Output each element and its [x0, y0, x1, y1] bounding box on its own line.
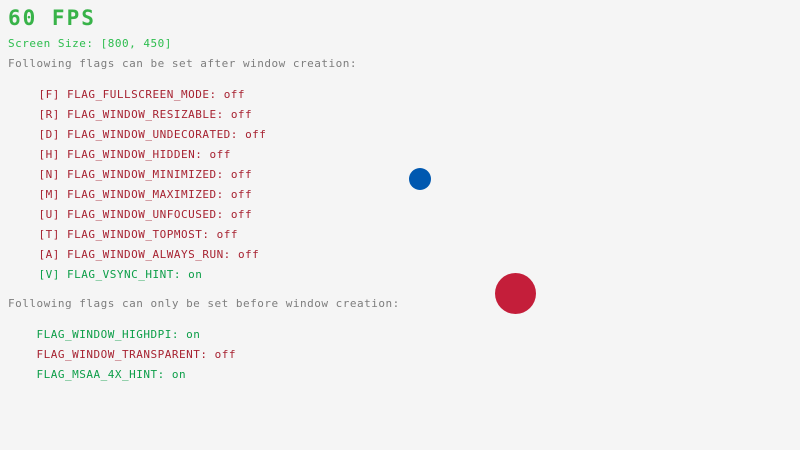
screen-size-label: Screen Size: [800, 450] — [8, 38, 172, 49]
flag-row-vsync-hint[interactable]: [V] FLAG_VSYNC_HINT: on — [10, 258, 202, 291]
section-heading-after-creation: Following flags can be set after window … — [8, 58, 357, 69]
section-heading-before-creation: Following flags can only be set before w… — [8, 298, 400, 309]
flag-row-msaa-4x-hint: FLAG_MSAA_4X_HINT: on — [8, 358, 186, 391]
flag-label-vsync-hint: [V] FLAG_VSYNC_HINT: — [39, 268, 189, 281]
raylib-window-canvas: 60 FPS Screen Size: [800, 450] Following… — [0, 0, 800, 450]
flag-state-vsync-hint: on — [188, 268, 202, 281]
flag-state-window-always-run: off — [238, 248, 259, 261]
flag-state-window-undecorated: off — [245, 128, 266, 141]
flag-state-msaa-4x-hint: on — [172, 368, 186, 381]
blue-circle-shape — [409, 168, 431, 190]
flag-state-window-transparent: off — [215, 348, 236, 361]
flag-label-msaa-4x-hint: FLAG_MSAA_4X_HINT: — [37, 368, 172, 381]
fps-counter: 60 FPS — [8, 8, 96, 29]
red-circle-shape — [495, 273, 536, 314]
